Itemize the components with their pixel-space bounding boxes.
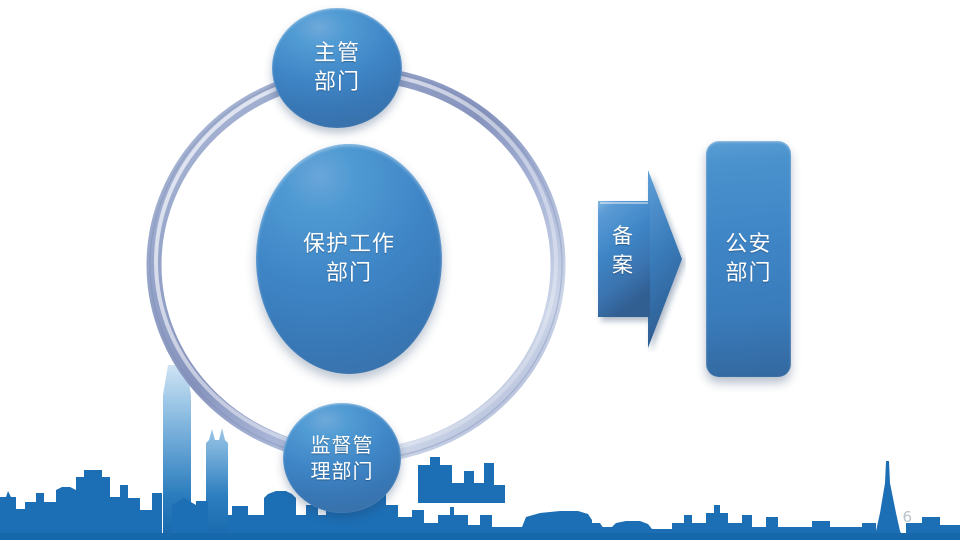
node-supervision-management-department[interactable]: 监督管 理部门 — [283, 403, 401, 513]
page-number: 6 — [902, 508, 912, 526]
node-label-right-line1: 公安 — [725, 232, 771, 257]
node-label-center-line2: 部门 — [326, 261, 372, 286]
filing-arrow-char1: 备 — [612, 224, 634, 248]
filing-arrow-label: 备 案 — [606, 222, 640, 279]
node-public-security-department[interactable]: 公安 部门 — [706, 141, 791, 377]
node-label-bottom-line1: 监督管 — [311, 433, 374, 457]
node-label-center: 保护工作 部门 — [303, 230, 395, 288]
node-label-right-line2: 部门 — [725, 261, 771, 286]
node-protection-work-department[interactable]: 保护工作 部门 — [256, 144, 442, 374]
node-supervising-department[interactable]: 主管 部门 — [272, 8, 402, 128]
node-label-right: 公安 部门 — [725, 230, 771, 288]
filing-arrow-char2: 案 — [612, 253, 634, 277]
slide-canvas: 主管 部门 保护工作 部门 监督管 理部门 — [0, 0, 960, 540]
node-label-top-line1: 主管 — [314, 41, 360, 66]
node-label-center-line1: 保护工作 — [303, 232, 395, 257]
node-label-bottom-line2: 理部门 — [311, 459, 374, 483]
node-label-top: 主管 部门 — [314, 39, 360, 97]
node-label-top-line2: 部门 — [314, 70, 360, 95]
node-label-bottom: 监督管 理部门 — [311, 432, 374, 485]
